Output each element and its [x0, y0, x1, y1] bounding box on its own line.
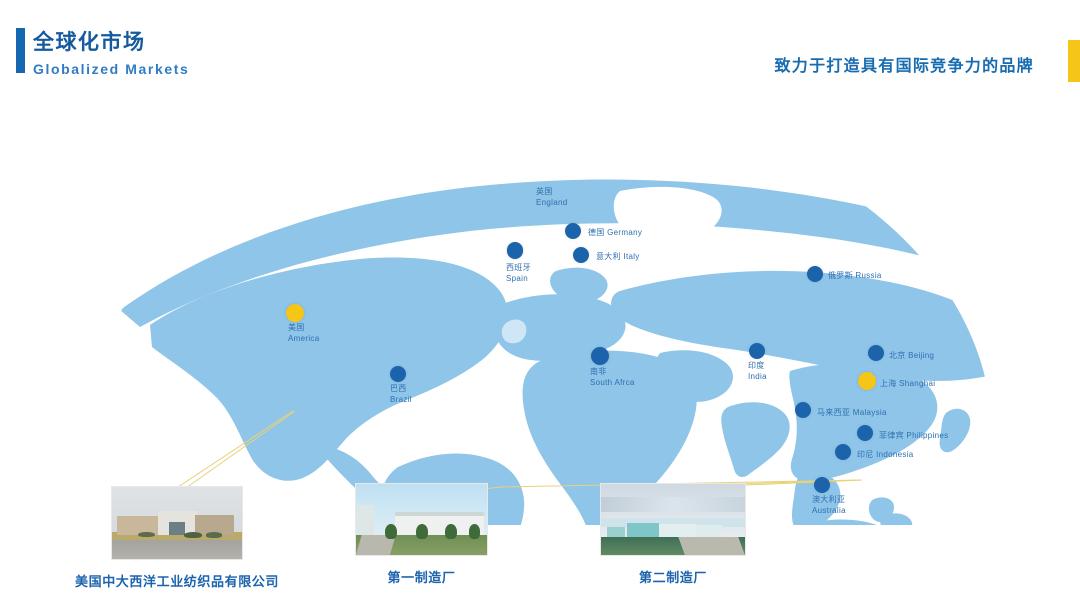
- map-marker-germany[interactable]: [565, 223, 581, 239]
- photo-building: [696, 525, 722, 537]
- map-label-cn: 菲律宾: [879, 431, 904, 440]
- map-label-spain: 西班牙Spain: [506, 262, 531, 284]
- map-label-en: Germany: [605, 228, 643, 237]
- map-marker-russia[interactable]: [807, 266, 823, 282]
- map-marker-shanghai[interactable]: [858, 372, 876, 390]
- map-label-en: Philippines: [904, 431, 949, 440]
- map-label-russia: 俄罗斯 Russia: [828, 268, 882, 282]
- map-label-en: Spain: [506, 273, 531, 284]
- photo-caption-us-office: 美国中大西洋工业纺织品有限公司: [75, 571, 279, 590]
- map-label-cn: 巴西: [390, 383, 412, 394]
- page-title-cn: 全球化市场: [33, 30, 189, 56]
- world-map: 英国England德国 Germany意大利 Italy西班牙Spain俄罗斯 …: [0, 95, 1080, 525]
- map-marker-india[interactable]: [749, 343, 765, 359]
- page-title: 全球化市场 Globalized Markets: [33, 30, 189, 79]
- header-accent-bar-right: [1068, 40, 1080, 82]
- map-label-cn: 西班牙: [506, 262, 531, 273]
- map-label-india: 印度India: [748, 360, 767, 382]
- photo-card-factory-1[interactable]: 第一制造厂: [355, 483, 488, 556]
- map-marker-australia[interactable]: [814, 477, 830, 493]
- map-marker-beijing[interactable]: [868, 345, 884, 361]
- map-marker-brazil[interactable]: [390, 366, 406, 382]
- map-marker-philippines[interactable]: [857, 425, 873, 441]
- map-marker-spain[interactable]: [507, 243, 523, 259]
- page-title-en: Globalized Markets: [33, 59, 189, 79]
- map-label-en: Malaysia: [850, 408, 887, 417]
- photo-bush: [184, 532, 202, 538]
- map-label-shanghai: 上海 Shanghai: [880, 376, 935, 390]
- map-marker-south-africa[interactable]: [591, 347, 609, 365]
- map-label-en: Shanghai: [897, 379, 936, 388]
- map-label-cn: 美国: [288, 322, 319, 333]
- map-label-cn: 马来西亚: [817, 408, 850, 417]
- map-marker-malaysia[interactable]: [795, 402, 811, 418]
- photo-card-factory-2[interactable]: 第二制造厂: [600, 483, 746, 556]
- photo-office-tower: [357, 505, 374, 537]
- map-label-cn: 上海: [880, 379, 897, 388]
- photo-card-us-office[interactable]: 美国中大西洋工业纺织品有限公司: [111, 486, 243, 560]
- photo-road: [678, 537, 745, 555]
- map-label-cn: 南非: [590, 366, 635, 377]
- photo-tree: [385, 524, 397, 540]
- map-label-brazil: 巴西Brazil: [390, 383, 412, 405]
- map-label-cn: 印尼: [857, 450, 874, 459]
- map-marker-indonesia[interactable]: [835, 444, 851, 460]
- photo-bush: [206, 532, 223, 538]
- map-label-cn: 印度: [748, 360, 767, 371]
- map-label-philippines: 菲律宾 Philippines: [879, 428, 948, 442]
- photo-factory-roof: [395, 512, 484, 516]
- map-label-beijing: 北京 Beijing: [889, 348, 934, 362]
- photo-caption-factory-1: 第一制造厂: [387, 567, 455, 586]
- map-label-en: Brazil: [390, 394, 412, 405]
- photo-factory-2: [600, 483, 746, 556]
- photo-entrance: [169, 522, 185, 534]
- map-label-italy: 意大利 Italy: [596, 249, 640, 263]
- map-label-en: South Afrca: [590, 377, 635, 388]
- map-label-malaysia: 马来西亚 Malaysia: [817, 405, 887, 419]
- photo-us-office: [111, 486, 243, 560]
- map-marker-america[interactable]: [286, 304, 304, 322]
- map-label-germany: 德国 Germany: [588, 225, 642, 239]
- map-label-en: Italy: [621, 252, 640, 261]
- header-accent-bar-left: [16, 28, 25, 73]
- map-label-australia: 澳大利亚Australia: [812, 494, 846, 516]
- map-label-cn: 英国: [536, 186, 567, 197]
- map-label-en: India: [748, 371, 767, 382]
- map-label-en: Indonesia: [874, 450, 914, 459]
- photo-tree: [469, 524, 481, 540]
- map-label-cn: 北京: [889, 351, 906, 360]
- map-label-en: England: [536, 197, 567, 208]
- map-label-en: Australia: [812, 505, 846, 516]
- map-label-england: 英国England: [536, 186, 567, 208]
- photo-clouds: [601, 497, 745, 513]
- map-label-en: Beijing: [906, 351, 935, 360]
- map-label-america: 美国America: [288, 322, 319, 344]
- map-label-en: America: [288, 333, 319, 344]
- photo-building-left: [117, 516, 160, 535]
- map-label-cn: 意大利: [596, 252, 621, 261]
- photo-factory-1: [355, 483, 488, 556]
- map-marker-italy[interactable]: [573, 247, 589, 263]
- connector-lines: [0, 95, 1080, 525]
- photo-tree: [416, 524, 428, 540]
- map-label-cn: 德国: [588, 228, 605, 237]
- page-header: 全球化市场 Globalized Markets 致力于打造具有国际竞争力的品牌: [0, 0, 1080, 100]
- photo-caption-factory-2: 第二制造厂: [639, 567, 707, 586]
- map-label-en: Russia: [853, 271, 882, 280]
- map-label-indonesia: 印尼 Indonesia: [857, 447, 914, 461]
- photo-tree: [445, 524, 457, 540]
- map-label-cn: 俄罗斯: [828, 271, 853, 280]
- map-label-cn: 澳大利亚: [812, 494, 846, 505]
- header-slogan: 致力于打造具有国际竞争力的品牌: [774, 52, 1034, 76]
- map-label-south-africa: 南非South Afrca: [590, 366, 635, 388]
